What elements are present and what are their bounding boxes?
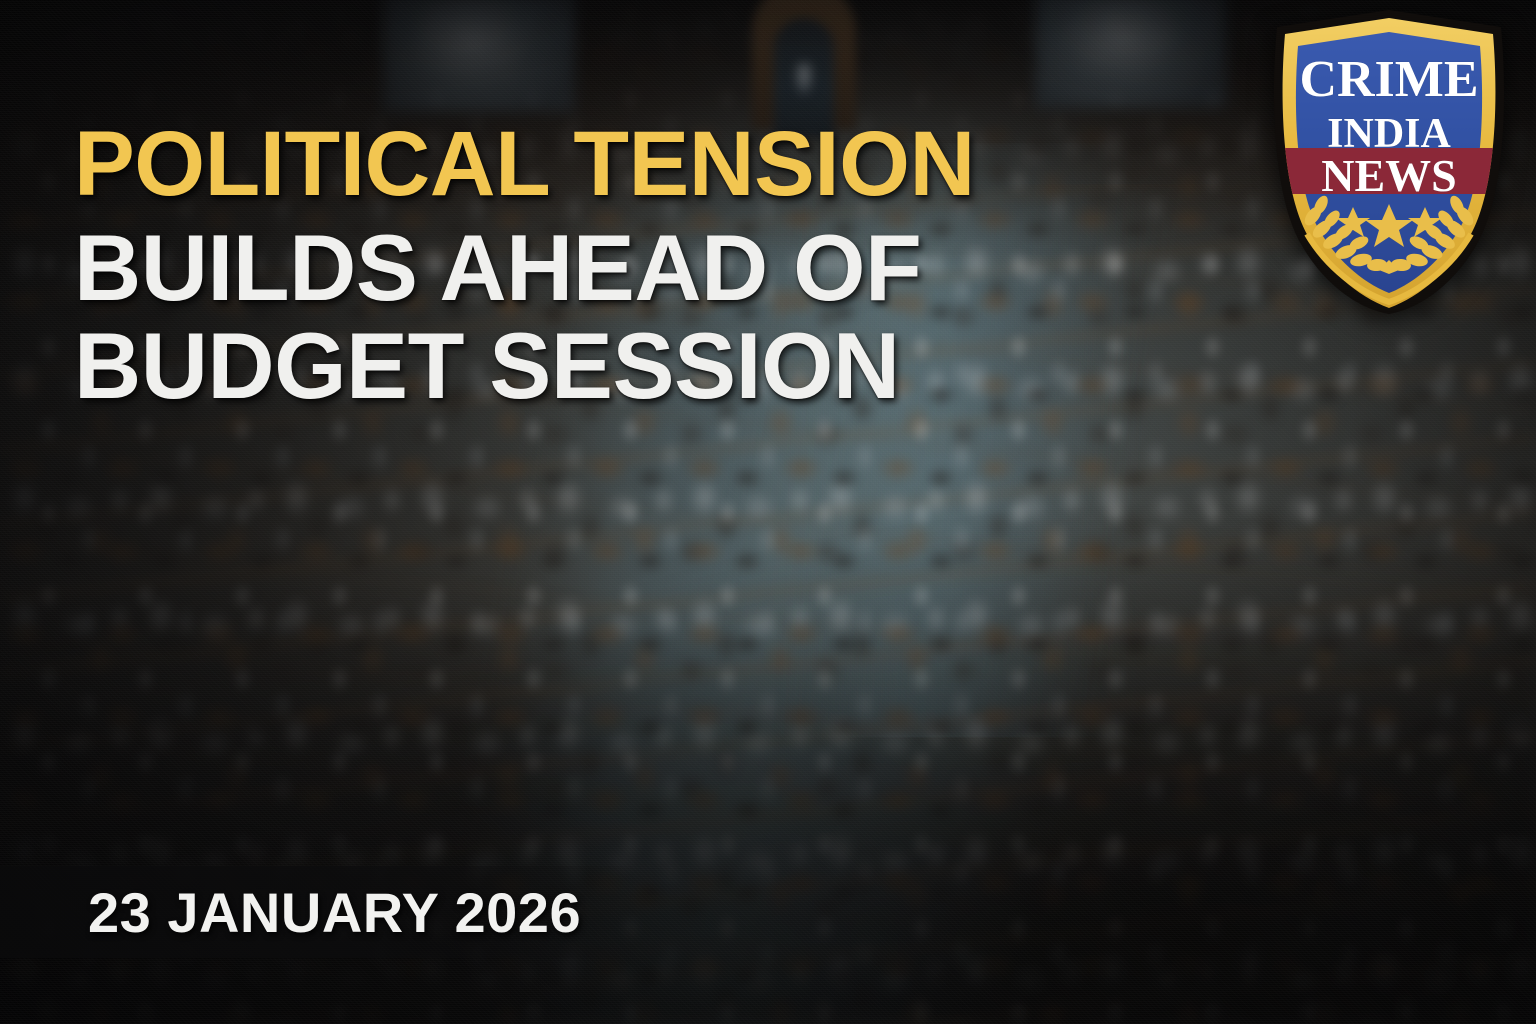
news-thumbnail-card: POLITICAL TENSION BUILDS AHEAD OF BUDGET… <box>0 0 1536 1024</box>
date-banner: 23 JANUARY 2026 <box>0 866 640 958</box>
shield-badge-icon: CRIME INDIA NEWS <box>1255 8 1523 316</box>
date-text: 23 JANUARY 2026 <box>88 880 581 945</box>
headline-line-2: BUILDS AHEAD OF <box>74 225 1064 311</box>
headline-block: POLITICAL TENSION BUILDS AHEAD OF BUDGET… <box>74 122 1074 410</box>
logo-text-crime: CRIME <box>1299 51 1478 108</box>
headline-line-1: POLITICAL TENSION <box>74 122 1064 207</box>
crime-india-news-logo[interactable]: CRIME INDIA NEWS <box>1255 8 1523 316</box>
logo-text-news: NEWS <box>1321 150 1456 201</box>
headline-line-3: BUDGET SESSION <box>74 323 1064 409</box>
